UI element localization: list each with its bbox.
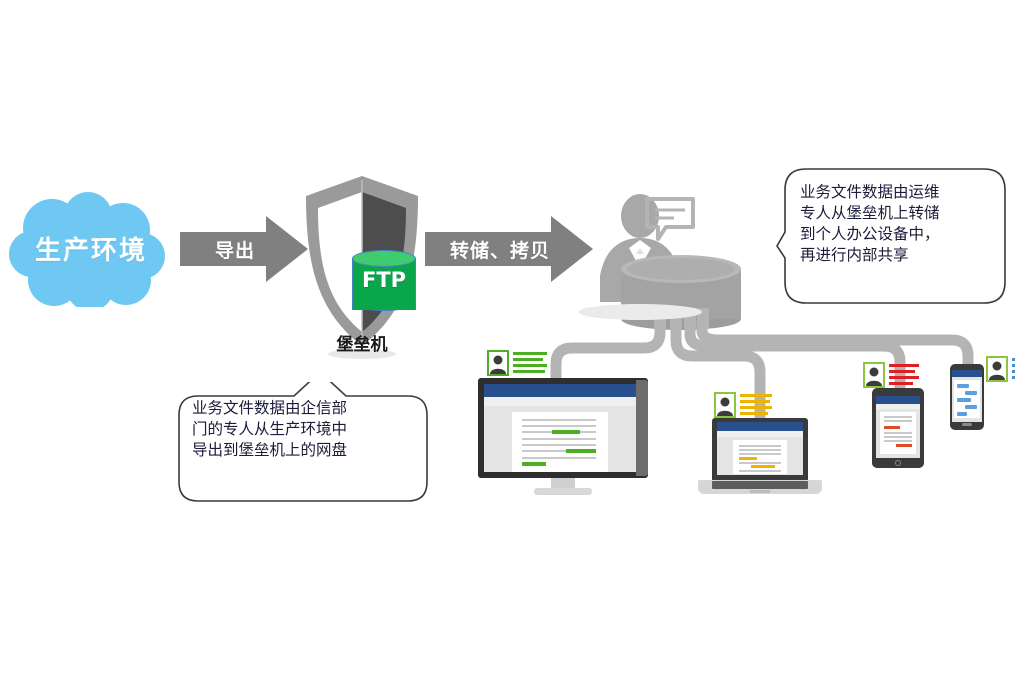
monitor-document — [512, 412, 608, 472]
device-phone[interactable] — [950, 364, 984, 430]
cloud-label: 生产环境 — [8, 230, 174, 267]
tablet-document — [880, 412, 916, 454]
avatar-icon — [986, 356, 1008, 382]
device-laptop[interactable] — [698, 418, 822, 502]
diagram-canvas: 生产环境 导出 FTP — [0, 0, 1015, 675]
avatar-icon — [714, 392, 736, 418]
contact-card-blue — [986, 356, 1015, 384]
laptop-titlebar — [717, 422, 803, 431]
card-lines — [889, 364, 919, 388]
device-tablet[interactable] — [872, 388, 924, 468]
laptop-trackpad — [750, 490, 770, 493]
contact-card-green — [487, 350, 551, 378]
laptop-document — [733, 440, 787, 474]
phone-home-button[interactable] — [962, 423, 972, 426]
tablet-home-button[interactable] — [895, 460, 901, 466]
callout-right-share[interactable]: 业务文件数据由运维 专人从堡垒机上转储 到个人办公设备中， 再进行内部共享 — [776, 166, 1008, 306]
monitor-titlebar — [484, 384, 636, 397]
monitor-screen — [484, 384, 636, 472]
contact-card-yellow — [714, 392, 776, 420]
laptop-keyboard — [712, 481, 808, 489]
callout-left-text: 业务文件数据由企信部 门的专人从生产环境中 导出到堡垒机上的网盘 — [192, 398, 416, 461]
tablet-toolbar — [876, 404, 920, 409]
speech-bubble-shape — [644, 196, 696, 244]
card-lines — [740, 394, 772, 418]
contact-card-red — [863, 362, 923, 390]
device-desktop-monitor[interactable] — [478, 378, 648, 498]
laptop-screen — [717, 422, 803, 475]
phone-chat-area — [954, 380, 980, 418]
phone-screen — [952, 370, 982, 422]
laptop-toolbar — [717, 431, 803, 437]
tablet-screen — [876, 396, 920, 458]
monitor-bezel-right — [636, 380, 648, 476]
monitor-toolbar — [484, 397, 636, 406]
ftp-cylinder-top — [352, 250, 416, 267]
ftp-cylinder[interactable]: FTP — [352, 250, 416, 318]
speech-bubble-icon — [644, 196, 696, 244]
ftp-label: FTP — [352, 268, 416, 292]
avatar-icon — [487, 350, 509, 376]
callout-right-text: 业务文件数据由运维 专人从堡垒机上转储 到个人办公设备中， 再进行内部共享 — [800, 182, 998, 266]
avatar-icon — [863, 362, 885, 388]
phone-titlebar — [952, 370, 982, 377]
callout-left-export[interactable]: 业务文件数据由企信部 门的专人从生产环境中 导出到堡垒机上的网盘 — [174, 382, 432, 504]
monitor-stand-base — [534, 488, 592, 495]
tablet-titlebar — [876, 396, 920, 404]
card-lines — [513, 352, 547, 376]
